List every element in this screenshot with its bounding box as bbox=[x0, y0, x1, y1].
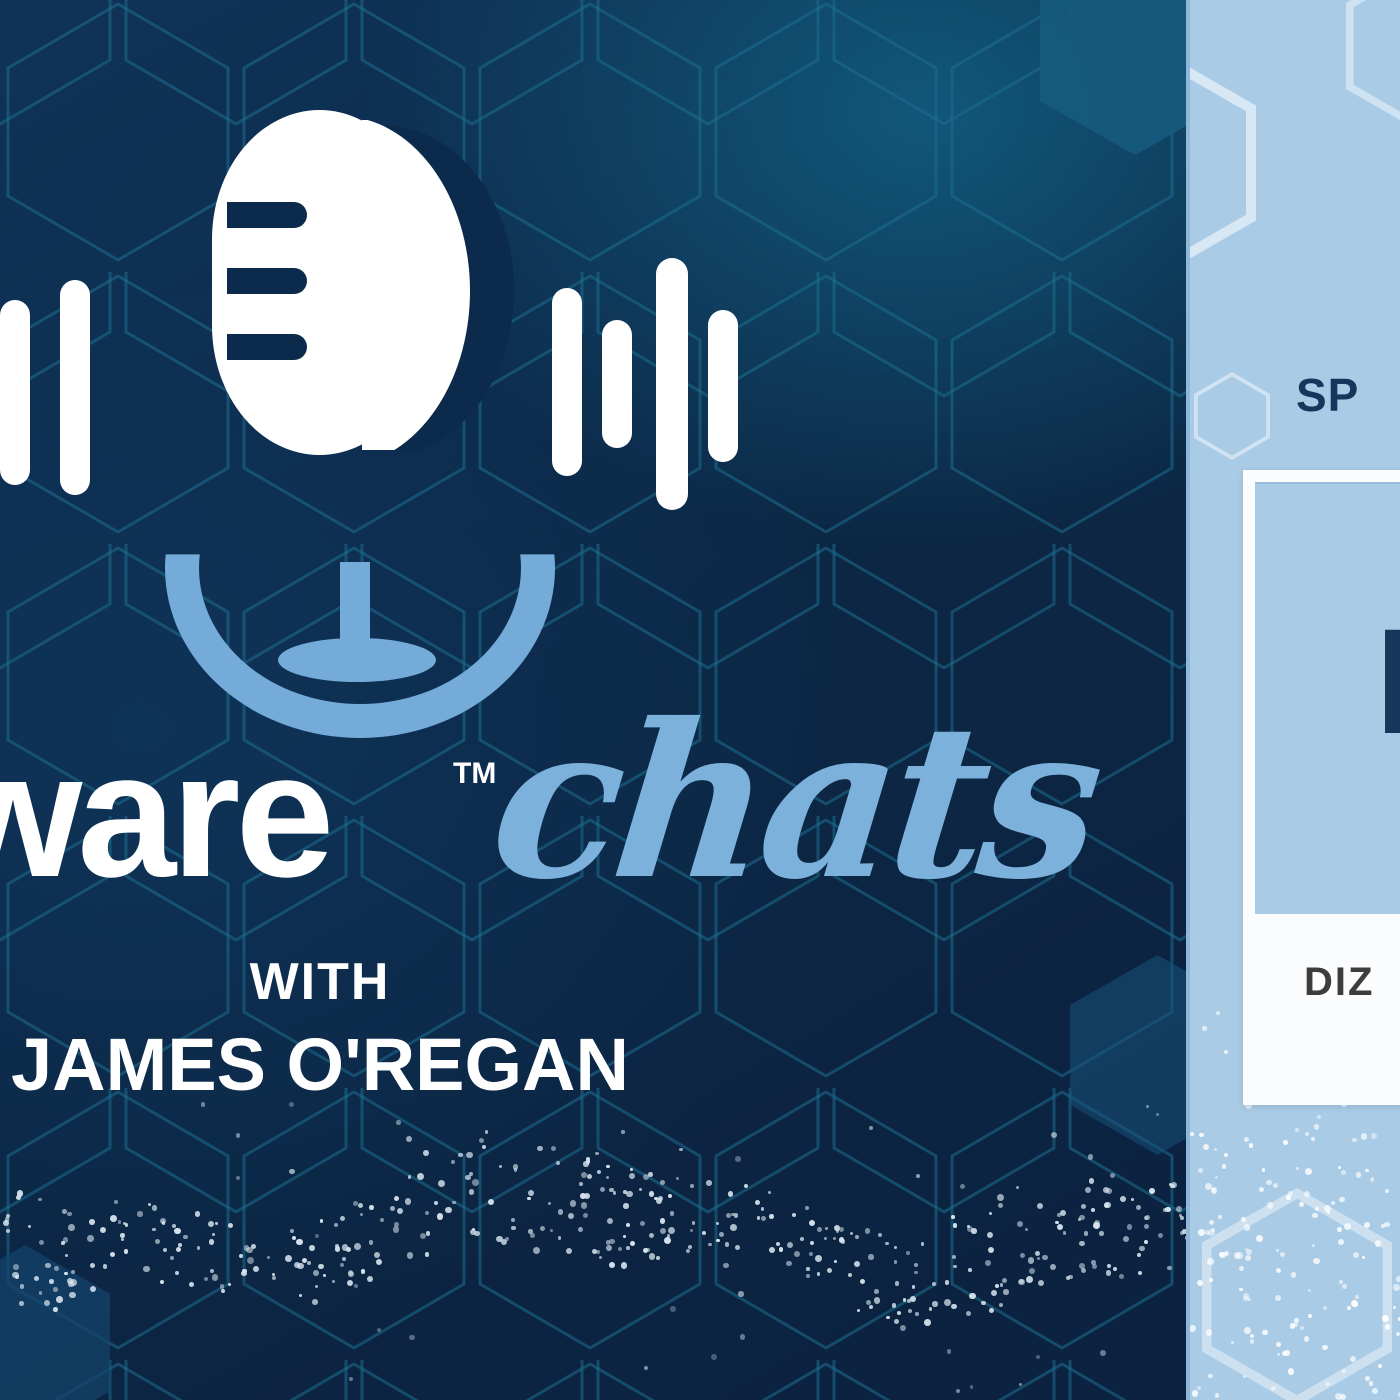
particle-dot bbox=[369, 1205, 374, 1210]
particle-dot bbox=[825, 1227, 828, 1230]
particle-dot bbox=[15, 1275, 19, 1279]
particle-dot bbox=[289, 1102, 294, 1107]
particle-dot bbox=[1110, 1173, 1116, 1179]
particle-dot bbox=[690, 1184, 694, 1188]
particle-dot bbox=[241, 1271, 246, 1276]
particle-dot bbox=[1136, 1205, 1141, 1210]
panel-particle-dot bbox=[1371, 1133, 1378, 1140]
particle-dot bbox=[197, 1246, 200, 1249]
particle-dot bbox=[118, 1220, 121, 1223]
particle-dot bbox=[623, 1203, 628, 1208]
panel-particle-dot bbox=[1393, 1284, 1400, 1291]
particle-dot bbox=[299, 1294, 303, 1298]
particle-dot bbox=[623, 1190, 627, 1194]
particle-dot bbox=[28, 1225, 31, 1228]
particle-dot bbox=[995, 1284, 999, 1288]
particle-dot bbox=[966, 1311, 971, 1316]
particle-dot bbox=[906, 1251, 910, 1255]
panel-particle-dot bbox=[1296, 1167, 1299, 1170]
particle-dot bbox=[623, 1235, 626, 1238]
panel-particle-dot bbox=[1219, 1252, 1226, 1259]
panel-particle-dot bbox=[1206, 1329, 1213, 1336]
particle-dot bbox=[174, 1228, 181, 1235]
particle-dot bbox=[376, 1259, 382, 1265]
particle-dot bbox=[354, 1243, 361, 1250]
particle-dot bbox=[469, 1172, 473, 1176]
particle-dot bbox=[380, 1218, 384, 1222]
particle-dot bbox=[406, 1136, 412, 1142]
particle-dot bbox=[163, 1248, 167, 1252]
particle-dot bbox=[407, 1252, 413, 1258]
panel-particle-dot bbox=[1323, 1306, 1327, 1310]
particle-dot bbox=[110, 1215, 117, 1222]
particle-dot bbox=[728, 1191, 733, 1196]
particle-dot bbox=[932, 1282, 936, 1286]
wordmark-script: chats bbox=[484, 696, 1104, 908]
particle-dot bbox=[929, 1307, 933, 1311]
particle-dot bbox=[945, 1280, 950, 1285]
particle-dot bbox=[451, 1160, 455, 1164]
panel-particle-dot bbox=[1277, 1353, 1280, 1356]
particle-dot bbox=[189, 1282, 194, 1287]
panel-particle-dot bbox=[1203, 1144, 1209, 1150]
panel-particle-dot bbox=[1224, 1153, 1228, 1157]
particle-dot bbox=[817, 1227, 822, 1232]
particle-dot bbox=[558, 1236, 561, 1239]
particle-dot bbox=[1091, 1208, 1095, 1212]
panel-particle-dot bbox=[1214, 1148, 1217, 1151]
panel-particle-dot bbox=[1344, 1223, 1351, 1230]
particle-dot bbox=[1100, 1350, 1106, 1356]
particle-dot bbox=[361, 1269, 366, 1274]
panel-particle-dot bbox=[1313, 1258, 1320, 1265]
particle-dot bbox=[806, 1267, 810, 1271]
particle-dot bbox=[914, 1263, 919, 1268]
panel-particle-dot bbox=[1347, 1306, 1351, 1310]
particle-dot bbox=[629, 1173, 635, 1179]
particle-dot bbox=[776, 1242, 780, 1246]
host-name: JAMES O'REGAN bbox=[0, 1022, 730, 1107]
panel-particle-dot bbox=[1312, 1213, 1318, 1219]
particle-dot bbox=[640, 1221, 645, 1226]
guest-card[interactable]: R bbox=[1243, 470, 1400, 1105]
panel-particle-dot bbox=[1267, 1202, 1274, 1209]
particle-dot bbox=[210, 1269, 214, 1273]
particle-dot bbox=[195, 1211, 200, 1216]
particle-dot bbox=[61, 1241, 65, 1245]
guest-name: DIZ bbox=[1304, 960, 1374, 1005]
particle-dot bbox=[953, 1223, 958, 1228]
particle-dot bbox=[583, 1161, 589, 1167]
particle-dot bbox=[885, 1242, 889, 1246]
particle-dot bbox=[320, 1219, 324, 1223]
particle-dot bbox=[528, 1190, 535, 1197]
particle-dot bbox=[806, 1274, 809, 1277]
panel-particle-dot bbox=[1299, 1202, 1304, 1207]
panel-particle-dot bbox=[1231, 1341, 1234, 1344]
particle-dot bbox=[578, 1227, 583, 1232]
panel-particle-dot bbox=[1276, 1249, 1279, 1252]
particle-dot bbox=[64, 1272, 68, 1276]
panel-particle-dot bbox=[1208, 1374, 1212, 1378]
particle-dot bbox=[1037, 1203, 1043, 1209]
particle-dot bbox=[621, 1130, 624, 1133]
particle-dot bbox=[70, 1279, 77, 1286]
particle-dot bbox=[162, 1221, 165, 1224]
particle-dot bbox=[1084, 1231, 1088, 1235]
particle-dot bbox=[836, 1229, 840, 1233]
particle-dot bbox=[90, 1286, 96, 1292]
particle-dot bbox=[1035, 1251, 1040, 1256]
panel-particle-dot bbox=[1339, 1280, 1343, 1284]
particle-dot bbox=[323, 1274, 327, 1278]
particle-dot bbox=[597, 1170, 601, 1174]
panel-particle-dot bbox=[1189, 1325, 1196, 1332]
particle-dot bbox=[548, 1202, 551, 1205]
particle-dot bbox=[800, 1237, 804, 1241]
panel-particle-dot bbox=[1304, 1191, 1310, 1197]
particle-dot bbox=[932, 1301, 937, 1306]
particle-dot bbox=[1057, 1224, 1063, 1230]
particle-dot bbox=[434, 1201, 438, 1205]
particle-dot bbox=[757, 1216, 761, 1220]
particle-dot bbox=[738, 1291, 744, 1297]
particle-dot bbox=[924, 1319, 931, 1326]
particle-dot bbox=[426, 1231, 430, 1235]
particle-dot bbox=[649, 1253, 656, 1260]
waveform-bar-left-1 bbox=[0, 300, 30, 485]
panel-particle-dot bbox=[1338, 1166, 1341, 1169]
panel-hexagon-outline-2 bbox=[1346, 0, 1400, 132]
particle-dot bbox=[423, 1150, 429, 1156]
particle-dot bbox=[1131, 1198, 1134, 1201]
panel-particle-dot bbox=[1339, 1197, 1345, 1203]
particle-dot bbox=[1038, 1280, 1044, 1286]
particle-dot bbox=[394, 1196, 399, 1201]
panel-particle-dot bbox=[1256, 1235, 1263, 1242]
particle-dot bbox=[540, 1226, 545, 1231]
particle-dot bbox=[711, 1354, 717, 1360]
particle-dot bbox=[708, 1243, 712, 1247]
panel-particle-dot bbox=[1192, 1390, 1199, 1397]
particle-dot bbox=[215, 1222, 219, 1226]
particle-dot bbox=[152, 1205, 158, 1211]
particle-dot bbox=[1089, 1178, 1095, 1184]
particle-dot bbox=[393, 1226, 399, 1232]
particle-dot bbox=[1026, 1276, 1033, 1283]
particle-dot bbox=[869, 1305, 874, 1310]
particle-dot bbox=[1106, 1188, 1113, 1195]
particle-dot bbox=[358, 1203, 363, 1208]
particle-dot bbox=[630, 1168, 633, 1171]
panel-particle-dot bbox=[1378, 1364, 1382, 1368]
panel-particle-dot bbox=[1385, 1324, 1391, 1330]
particle-dot bbox=[895, 1281, 900, 1286]
panel-particle-dot bbox=[1209, 1220, 1214, 1225]
guest-photo-initial: R bbox=[1375, 606, 1400, 756]
particle-dot bbox=[953, 1265, 957, 1269]
particle-dot bbox=[1063, 1231, 1067, 1235]
particle-dot bbox=[13, 1264, 19, 1270]
panel-particle-dot bbox=[1342, 1369, 1346, 1373]
particle-dot bbox=[1144, 1224, 1149, 1229]
particle-dot bbox=[1156, 1113, 1159, 1116]
particle-dot bbox=[396, 1120, 400, 1124]
particle-dot bbox=[600, 1187, 605, 1192]
particle-dot bbox=[296, 1239, 303, 1246]
panel-particle-dot bbox=[1262, 1330, 1268, 1336]
particle-dot bbox=[204, 1277, 208, 1281]
panel-particle-dot bbox=[1356, 1172, 1362, 1178]
particle-dot bbox=[124, 1249, 129, 1254]
particle-dot bbox=[868, 1254, 873, 1259]
particle-dot bbox=[1019, 1383, 1022, 1386]
panel-particle-dot bbox=[1244, 1137, 1249, 1142]
particle-dot bbox=[643, 1174, 649, 1180]
particle-dot bbox=[989, 1212, 993, 1216]
particle-dot bbox=[989, 1308, 994, 1313]
particle-dot bbox=[860, 1279, 865, 1284]
particle-dot bbox=[302, 1258, 307, 1263]
particle-dot bbox=[854, 1261, 861, 1268]
particle-dot bbox=[792, 1213, 796, 1217]
particle-dot bbox=[607, 1218, 613, 1224]
particle-dot bbox=[679, 1148, 683, 1152]
particle-dot bbox=[794, 1251, 800, 1257]
particle-dot bbox=[769, 1247, 775, 1253]
particle-dot bbox=[121, 1238, 124, 1241]
panel-particle-dot bbox=[1293, 1322, 1298, 1327]
particle-dot bbox=[1144, 1240, 1148, 1244]
particle-dot bbox=[236, 1176, 240, 1180]
particle-dot bbox=[425, 1252, 430, 1257]
waveform-bar-right-2 bbox=[602, 320, 632, 448]
particle-dot bbox=[212, 1233, 215, 1236]
microphone-icon bbox=[150, 110, 570, 690]
particle-dot bbox=[209, 1239, 214, 1244]
panel-particle-dot bbox=[1284, 1350, 1290, 1356]
particle-dot bbox=[1037, 1257, 1041, 1261]
particle-dot bbox=[740, 1334, 746, 1340]
particle-dot bbox=[874, 1297, 881, 1304]
section-label: SP bbox=[1296, 368, 1359, 422]
particle-dot bbox=[1127, 1224, 1133, 1230]
particle-dot bbox=[568, 1213, 574, 1219]
particle-dot bbox=[340, 1263, 344, 1267]
particle-dot bbox=[900, 1325, 906, 1331]
particle-dot bbox=[998, 1203, 1004, 1209]
particle-dot bbox=[39, 1240, 44, 1245]
particle-dot bbox=[686, 1249, 690, 1253]
panel-particle-dot bbox=[1215, 1393, 1219, 1397]
particle-dot bbox=[779, 1247, 784, 1252]
particle-dot bbox=[332, 1280, 335, 1283]
panel-particle-dot bbox=[1352, 1138, 1357, 1143]
particle-dot bbox=[1138, 1271, 1142, 1275]
trademark-symbol: TM bbox=[453, 757, 496, 791]
panel-particle-dot bbox=[1239, 1266, 1245, 1272]
particle-dot bbox=[656, 1198, 662, 1204]
particle-dot bbox=[143, 1266, 150, 1273]
particle-dot bbox=[579, 1182, 583, 1186]
particle-dot bbox=[90, 1263, 95, 1268]
particle-dot bbox=[566, 1248, 572, 1254]
particle-dot bbox=[1107, 1264, 1111, 1268]
particle-dot bbox=[1085, 1187, 1091, 1193]
particle-dot bbox=[1149, 1188, 1155, 1194]
particle-dot bbox=[668, 1194, 673, 1199]
panel-particle-dot bbox=[1207, 1258, 1214, 1265]
particle-dot bbox=[49, 1279, 54, 1284]
particle-dot bbox=[347, 1280, 353, 1286]
panel-particle-dot bbox=[1353, 1252, 1359, 1258]
particle-dot bbox=[639, 1188, 642, 1191]
panel-particle-dot bbox=[1239, 1288, 1243, 1292]
particle-dot bbox=[1106, 1270, 1111, 1275]
particle-dot bbox=[39, 1291, 43, 1295]
particle-dot bbox=[1042, 1255, 1048, 1261]
panel-particle-dot bbox=[1250, 1334, 1254, 1338]
panel-particle-dot bbox=[1325, 1382, 1330, 1387]
particle-dot bbox=[999, 1303, 1003, 1307]
particle-dot bbox=[482, 1145, 486, 1149]
particle-dot bbox=[137, 1211, 142, 1216]
particle-dot bbox=[716, 1239, 720, 1243]
particle-dot bbox=[1099, 1231, 1103, 1235]
particle-dot bbox=[1051, 1132, 1057, 1138]
panel-particle-dot bbox=[1342, 1284, 1347, 1289]
particle-dot bbox=[988, 1247, 995, 1254]
panel-particle-dot bbox=[1337, 1227, 1342, 1232]
particle-dot bbox=[892, 1303, 897, 1308]
particle-dot bbox=[152, 1228, 156, 1232]
particle-dot bbox=[208, 1221, 215, 1228]
particle-dot bbox=[581, 1202, 588, 1209]
panel-particle-dot bbox=[1198, 1229, 1205, 1236]
particle-dot bbox=[649, 1191, 654, 1196]
particle-dot bbox=[599, 1256, 602, 1259]
particle-dot bbox=[914, 1271, 918, 1275]
particle-dot bbox=[815, 1255, 822, 1262]
particle-dot bbox=[335, 1244, 339, 1248]
mic-grille-notch-1 bbox=[227, 202, 307, 228]
panel-particle-dot bbox=[1291, 1272, 1297, 1278]
particle-dot bbox=[769, 1214, 774, 1219]
particle-dot bbox=[609, 1239, 615, 1245]
panel-particle-dot bbox=[1276, 1342, 1281, 1347]
particle-dot bbox=[970, 1385, 974, 1389]
particle-dot bbox=[817, 1272, 821, 1276]
particle-dot bbox=[220, 1284, 225, 1289]
particle-dot bbox=[313, 1270, 319, 1276]
panel-particle-dot bbox=[1315, 1207, 1319, 1211]
particle-dot bbox=[68, 1224, 75, 1231]
particle-dot bbox=[824, 1237, 828, 1241]
panel-particle-dot bbox=[1305, 1168, 1312, 1175]
particle-dot bbox=[533, 1247, 540, 1254]
panel-hexagon-outline-1 bbox=[1186, 48, 1256, 278]
particle-dot bbox=[630, 1241, 635, 1246]
particle-dot bbox=[56, 1296, 63, 1303]
panel-particle-dot bbox=[1393, 1306, 1396, 1309]
waveform-bar-right-3 bbox=[656, 258, 688, 510]
particle-dot bbox=[527, 1197, 531, 1201]
panel-particle-dot bbox=[1273, 1183, 1278, 1188]
particle-dot bbox=[289, 1169, 295, 1175]
panel-particle-dot bbox=[1365, 1169, 1368, 1172]
particle-dot bbox=[89, 1219, 95, 1225]
particle-dot bbox=[1145, 1215, 1150, 1220]
particle-dot bbox=[67, 1212, 72, 1217]
panel-particle-dot bbox=[1381, 1224, 1385, 1228]
panel-particle-dot bbox=[1283, 1140, 1288, 1145]
particle-dot bbox=[307, 1261, 311, 1265]
particle-dot bbox=[991, 1290, 997, 1296]
particle-dot bbox=[103, 1264, 108, 1269]
particle-dot bbox=[511, 1226, 516, 1231]
particle-dot bbox=[1158, 1233, 1163, 1238]
particle-dot bbox=[315, 1234, 319, 1238]
particle-dot bbox=[857, 1309, 860, 1312]
particle-dot bbox=[1060, 1210, 1066, 1216]
panel-particle-dot bbox=[1362, 1256, 1365, 1259]
particle-dot bbox=[1000, 1283, 1004, 1287]
left-dark-panel: dware TM chats WITH JAMES O'REGAN bbox=[0, 0, 1186, 1400]
panel-divider bbox=[1186, 0, 1190, 1400]
particle-dot bbox=[848, 1273, 853, 1278]
particle-dot bbox=[878, 1233, 882, 1237]
particle-dot bbox=[606, 1245, 612, 1251]
particle-dot bbox=[731, 1213, 735, 1217]
particle-dot bbox=[360, 1213, 363, 1216]
particle-dot bbox=[1020, 1253, 1025, 1258]
particle-dot bbox=[621, 1262, 627, 1268]
particle-dot bbox=[247, 1257, 254, 1264]
panel-particle-dot bbox=[1243, 1375, 1247, 1379]
particle-dot bbox=[668, 1227, 675, 1234]
particle-dot bbox=[1113, 1267, 1117, 1271]
particle-dot bbox=[809, 1220, 815, 1226]
particle-dot bbox=[886, 1316, 889, 1319]
panel-particle-dot bbox=[1280, 1252, 1285, 1257]
particle-dot bbox=[315, 1285, 318, 1288]
particle-dot bbox=[267, 1256, 270, 1259]
particle-dot bbox=[309, 1245, 315, 1251]
panel-particle-dot bbox=[1312, 1244, 1315, 1247]
particle-dot bbox=[69, 1292, 75, 1298]
particle-dot bbox=[1079, 1215, 1085, 1221]
particle-dot bbox=[239, 1254, 244, 1259]
particle-dot bbox=[1028, 1257, 1034, 1263]
particle-dot bbox=[968, 1268, 972, 1272]
panel-particle-dot bbox=[1244, 1224, 1251, 1231]
panel-particle-dot bbox=[1215, 1176, 1219, 1180]
particle-dot bbox=[53, 1307, 58, 1312]
particle-dot bbox=[723, 1263, 729, 1269]
panel-particle-dot bbox=[1304, 1336, 1309, 1341]
particle-dot bbox=[499, 1165, 502, 1168]
particle-dot bbox=[367, 1276, 373, 1282]
particle-dot bbox=[897, 1311, 901, 1315]
particle-dot bbox=[735, 1156, 741, 1162]
particle-dot bbox=[420, 1233, 427, 1240]
particle-dot bbox=[609, 1188, 614, 1193]
particle-dot bbox=[175, 1271, 179, 1275]
panel-particle-dot bbox=[1314, 1124, 1320, 1130]
particle-dot bbox=[45, 1263, 51, 1269]
particle-dot bbox=[44, 1300, 50, 1306]
particle-dot bbox=[744, 1184, 749, 1189]
